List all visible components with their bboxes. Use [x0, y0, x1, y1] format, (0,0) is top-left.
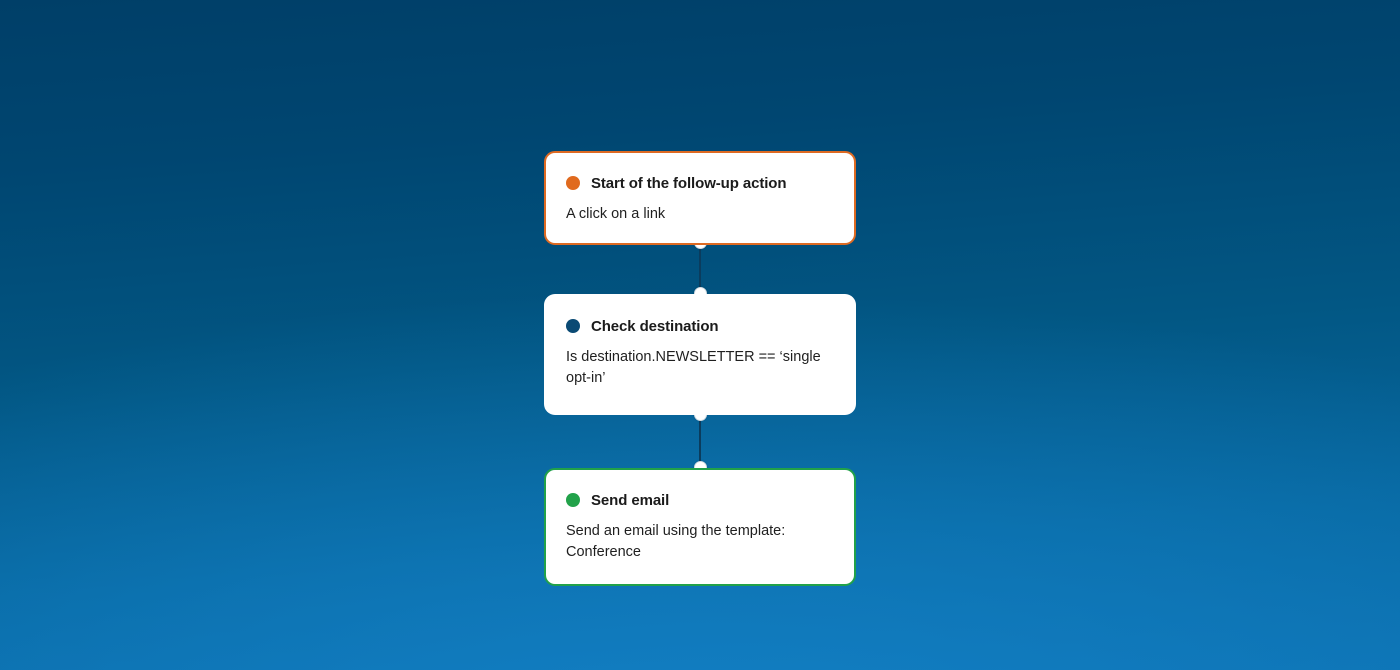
- navy-circle-icon: [566, 319, 580, 333]
- node-header: Check destination: [566, 316, 834, 336]
- node-header: Send email: [566, 490, 834, 510]
- node-description: A click on a link: [566, 204, 828, 225]
- orange-circle-icon: [566, 176, 580, 190]
- green-circle-icon: [566, 493, 580, 507]
- node-title: Start of the follow-up action: [591, 175, 786, 192]
- node-description: Send an email using the template: Confer…: [566, 521, 828, 563]
- node-header: Start of the follow-up action: [566, 173, 834, 193]
- node-title: Check destination: [591, 318, 719, 335]
- workflow-canvas[interactable]: Start of the follow-up action A click on…: [0, 0, 1400, 670]
- node-description: Is destination.NEWSLETTER == ‘single opt…: [566, 347, 828, 389]
- workflow-node-trigger[interactable]: Start of the follow-up action A click on…: [544, 151, 856, 245]
- workflow-node-action[interactable]: Send email Send an email using the templ…: [544, 468, 856, 586]
- workflow-node-condition[interactable]: Check destination Is destination.NEWSLET…: [544, 294, 856, 415]
- node-title: Send email: [591, 492, 669, 509]
- connector-condition-to-action[interactable]: [699, 414, 701, 468]
